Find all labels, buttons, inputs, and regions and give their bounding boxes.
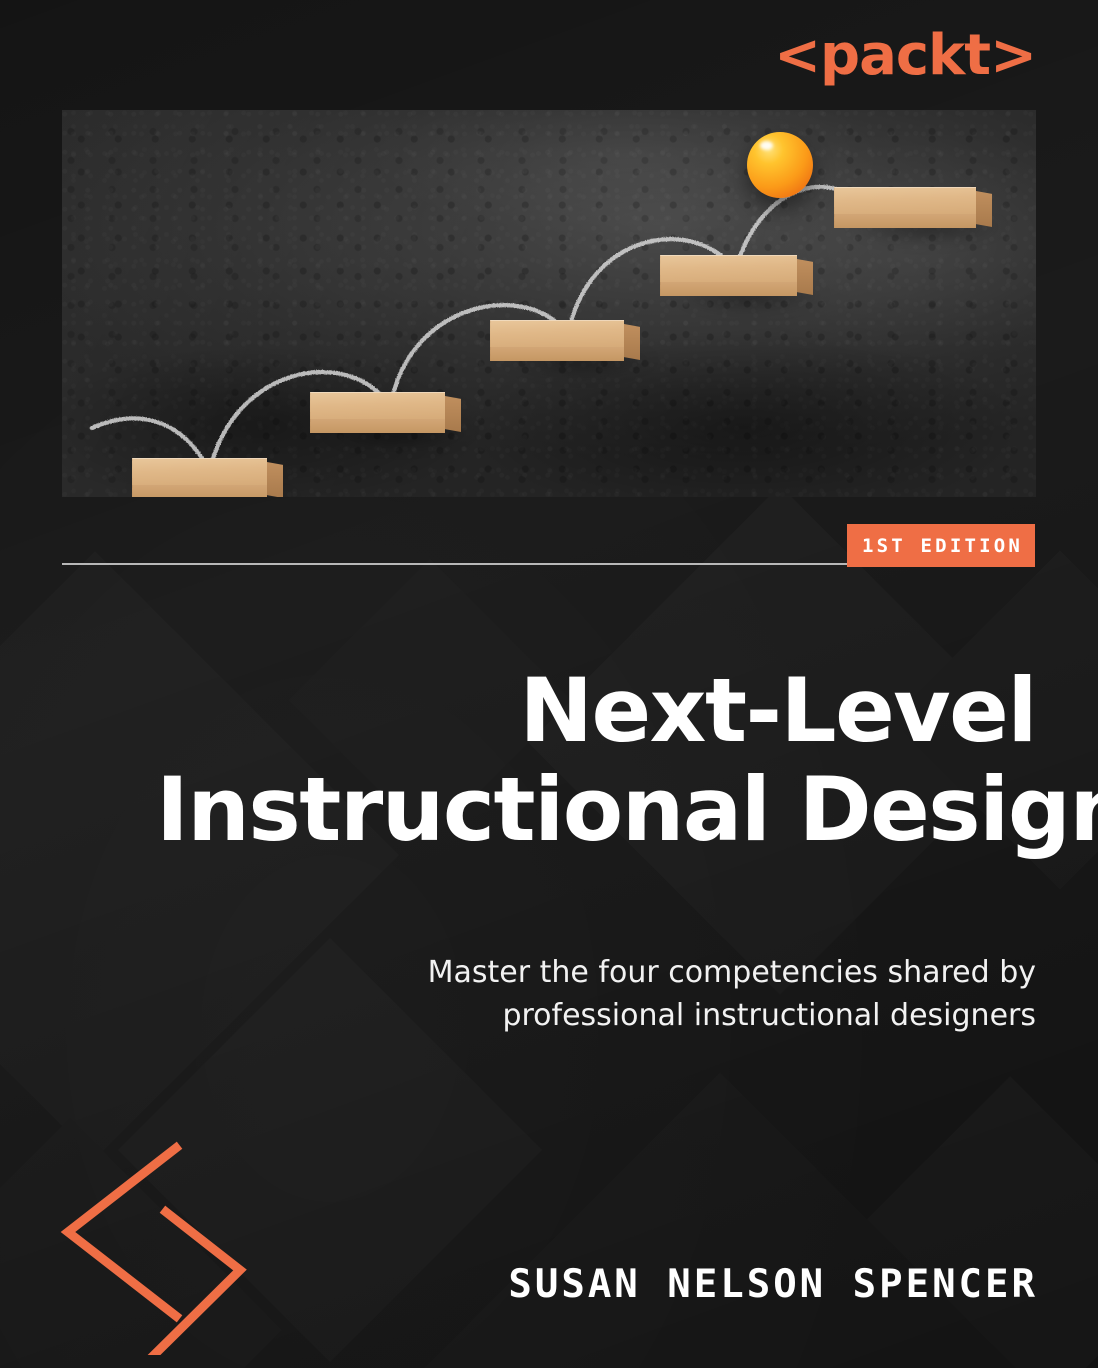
block-front-face xyxy=(660,282,797,296)
block-side-face xyxy=(445,396,461,432)
subtitle-line-2: professional instructional designers xyxy=(276,995,1036,1038)
step-block-1 xyxy=(132,458,282,497)
block-front-face xyxy=(834,214,976,228)
block-front-face xyxy=(310,419,445,433)
edition-badge: 1ST EDITION xyxy=(847,524,1035,567)
facet-shape xyxy=(352,1072,1087,1368)
subtitle-line-1: Master the four competencies shared by xyxy=(276,952,1036,995)
facet-shape xyxy=(826,1076,1098,1368)
step-block-3 xyxy=(490,320,640,362)
step-block-5 xyxy=(834,187,994,229)
ball-highlight xyxy=(760,141,773,151)
block-side-face xyxy=(976,191,992,227)
edition-label: 1ST EDITION xyxy=(859,535,1023,557)
packt-logo: <packt> xyxy=(774,28,1036,84)
step-block-2 xyxy=(310,392,460,434)
chalk-arcs xyxy=(62,110,1036,497)
block-top-face xyxy=(132,458,267,485)
orange-ball xyxy=(747,132,813,198)
horizontal-divider xyxy=(62,563,850,565)
chevron-brand-mark-icon xyxy=(58,1140,248,1355)
title-line-1: Next-Level xyxy=(156,662,1036,761)
block-top-face xyxy=(660,255,797,282)
block-front-face xyxy=(490,347,624,361)
block-side-face xyxy=(267,462,283,497)
block-front-face xyxy=(132,485,267,497)
block-top-face xyxy=(834,187,976,214)
block-side-face xyxy=(624,324,640,360)
book-title: Next-Level Instructional Design xyxy=(156,662,1036,859)
step-block-4 xyxy=(660,255,815,297)
title-line-2: Instructional Design xyxy=(156,761,1036,860)
book-subtitle: Master the four competencies shared by p… xyxy=(276,952,1036,1037)
block-top-face xyxy=(310,392,445,419)
book-cover: <packt> xyxy=(0,0,1098,1368)
hero-image xyxy=(62,110,1036,497)
block-side-face xyxy=(797,259,813,295)
block-top-face xyxy=(490,320,624,347)
author-name: SUSAN NELSON SPENCER xyxy=(508,1262,1038,1307)
